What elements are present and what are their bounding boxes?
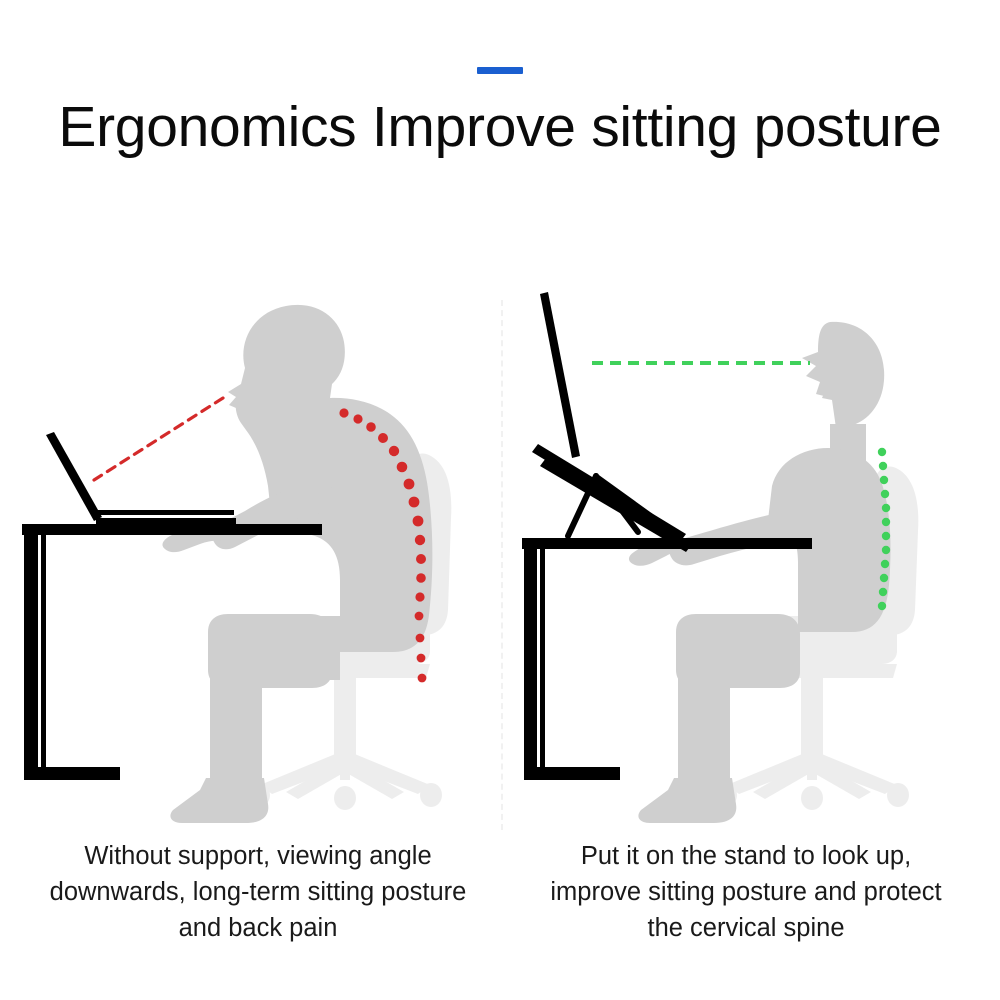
- page-title: Ergonomics Improve sitting posture: [0, 96, 1000, 160]
- illustration-bad-posture: [10, 280, 490, 840]
- illustration-good-posture: [510, 280, 990, 840]
- caption-bad-posture: Without support, viewing angle downwards…: [48, 838, 468, 947]
- caption-good-posture: Put it on the stand to look up, improve …: [536, 838, 956, 947]
- laptop-icon: [532, 292, 692, 552]
- person-upright-silhouette: [629, 322, 891, 823]
- sight-line-bad-icon: [94, 398, 223, 480]
- panel-divider: [501, 300, 503, 830]
- person-hunched-silhouette: [163, 305, 433, 823]
- laptop-icon: [46, 432, 236, 524]
- infographic-page: Ergonomics Improve sitting posture: [0, 0, 1000, 1000]
- accent-bar: [477, 67, 523, 74]
